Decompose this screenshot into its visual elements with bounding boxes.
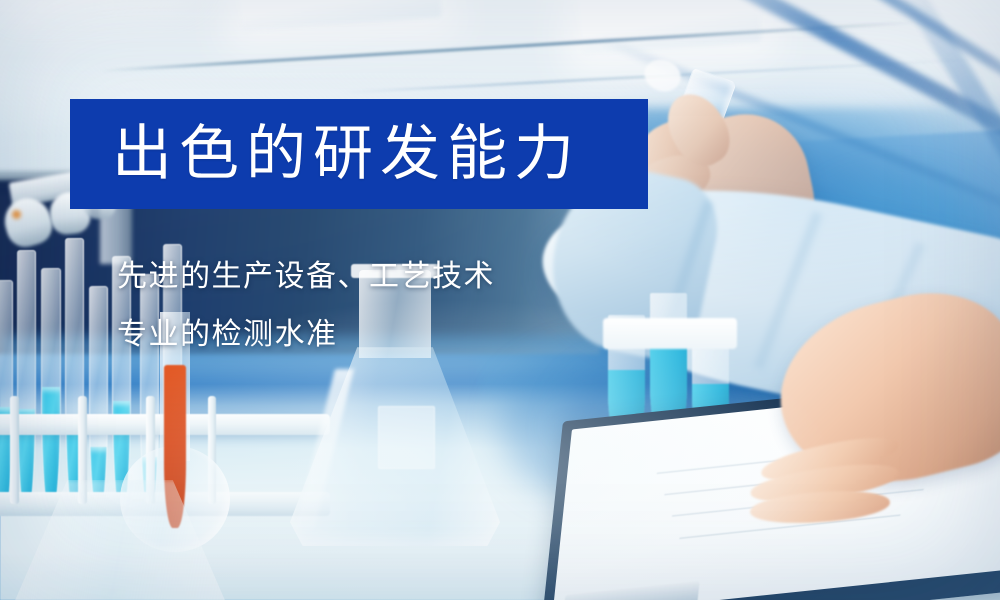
rack-post-1 [10,396,19,504]
lab-capability-banner: 出色的研发能力 先进的生产设备、工艺技术 专业的检测水准 [0,0,1000,600]
erlenmeyer-label [378,406,435,469]
headline-banner-box: 出色的研发能力 [70,99,648,209]
microscope-indicator-light [12,210,21,219]
rack-test-tube-2 [17,250,36,516]
rack-test-tube-3 [41,268,61,516]
subtitle-block: 先进的生产设备、工艺技术 专业的检测水准 [117,248,495,363]
page-title: 出色的研发能力 [112,124,581,184]
secondary-rack-top-bar [603,318,737,349]
test-tube-lip-highlight [639,55,685,97]
subtitle-line-2: 专业的检测水准 [117,306,495,364]
subtitle-line-1: 先进的生产设备、工艺技术 [117,248,495,306]
